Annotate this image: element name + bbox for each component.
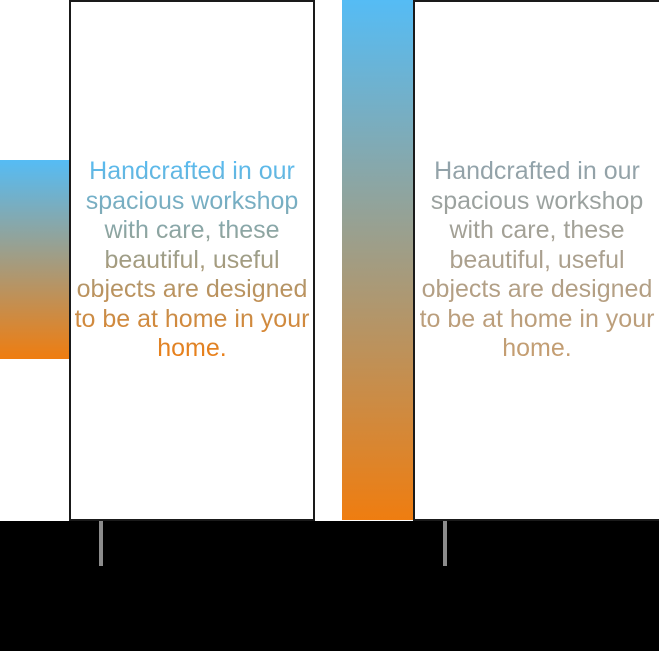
gradient-swatch-right — [342, 0, 414, 520]
gradient-paragraph-muted: Handcrafted in our spacious workshop wit… — [415, 157, 659, 364]
text-panel-left: Handcrafted in our spacious workshop wit… — [69, 0, 315, 521]
gradient-swatch-left — [0, 160, 69, 359]
tick-mark-2 — [443, 521, 447, 566]
tick-mark-1 — [99, 521, 103, 566]
gradient-paragraph-vivid: Handcrafted in our spacious workshop wit… — [71, 157, 313, 364]
canvas-stage: Handcrafted in our spacious workshop wit… — [0, 0, 659, 651]
text-panel-right: Handcrafted in our spacious workshop wit… — [413, 0, 659, 521]
